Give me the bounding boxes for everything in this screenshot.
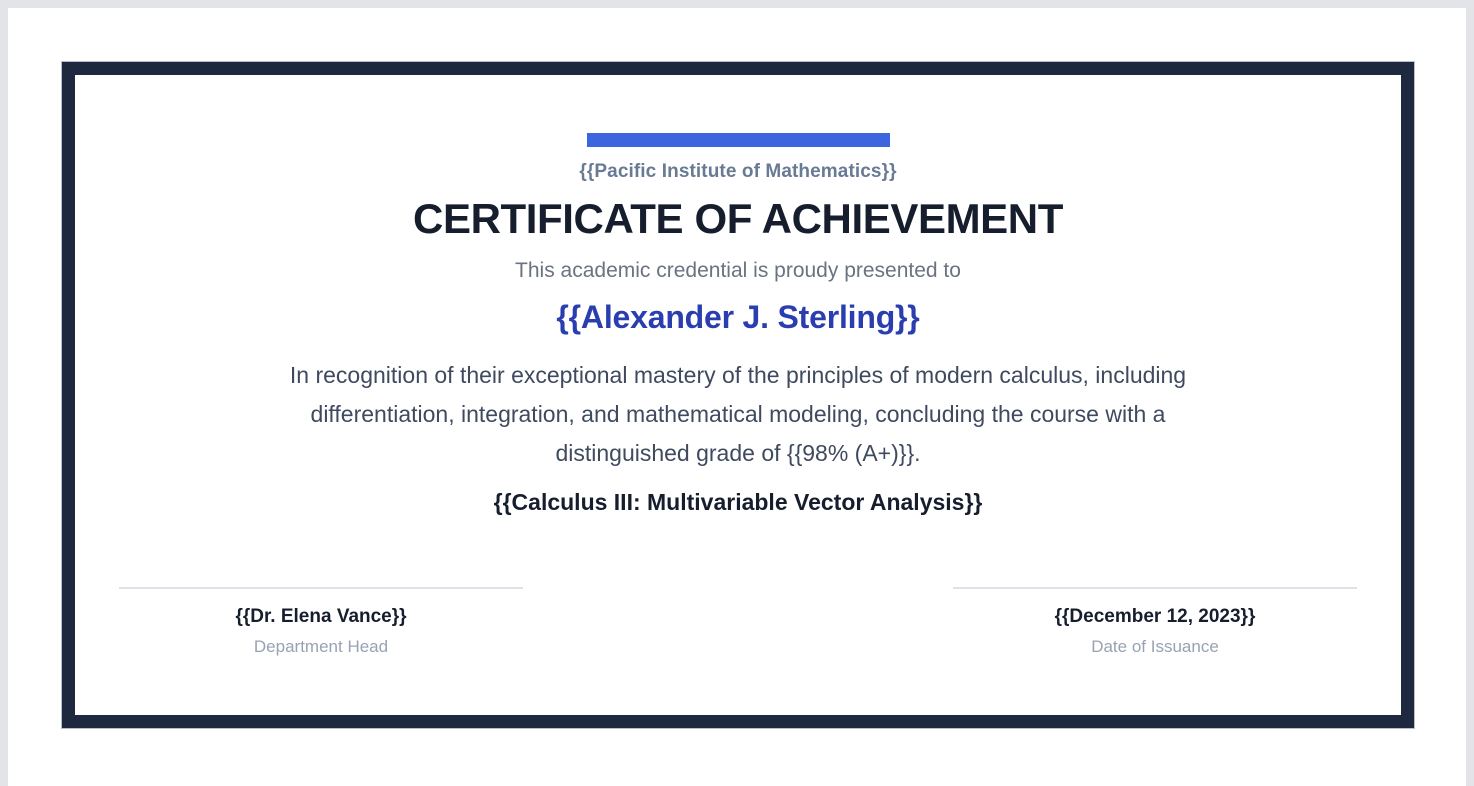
signature-rule: [119, 587, 523, 589]
page-title: CERTIFICATE OF ACHIEVEMENT: [413, 197, 1063, 241]
signature-row: {{Dr. Elena Vance}} Department Head {{De…: [75, 587, 1401, 657]
institution-name: {{Pacific Institute of Mathematics}}: [579, 161, 896, 183]
recipient-name: {{Alexander J. Sterling}}: [556, 299, 919, 336]
citation-body: In recognition of their exceptional mast…: [278, 356, 1198, 473]
course-title: {{Calculus III: Multivariable Vector Ana…: [494, 489, 983, 516]
issuance-date: {{December 12, 2023}}: [953, 606, 1357, 628]
certificate-frame: {{Pacific Institute of Mathematics}} CER…: [62, 62, 1414, 728]
certificate-content: {{Pacific Institute of Mathematics}} CER…: [75, 75, 1401, 715]
signatory-name: {{Dr. Elena Vance}}: [119, 606, 523, 628]
signature-block-right: {{December 12, 2023}} Date of Issuance: [953, 587, 1357, 657]
issuance-date-label: Date of Issuance: [953, 637, 1357, 657]
signatory-role: Department Head: [119, 637, 523, 657]
accent-bar: [587, 133, 890, 147]
signature-block-left: {{Dr. Elena Vance}} Department Head: [119, 587, 523, 657]
presented-to-label: This academic credential is proudy prese…: [515, 259, 961, 283]
certificate-page: {{Pacific Institute of Mathematics}} CER…: [8, 8, 1466, 786]
signature-rule: [953, 587, 1357, 589]
